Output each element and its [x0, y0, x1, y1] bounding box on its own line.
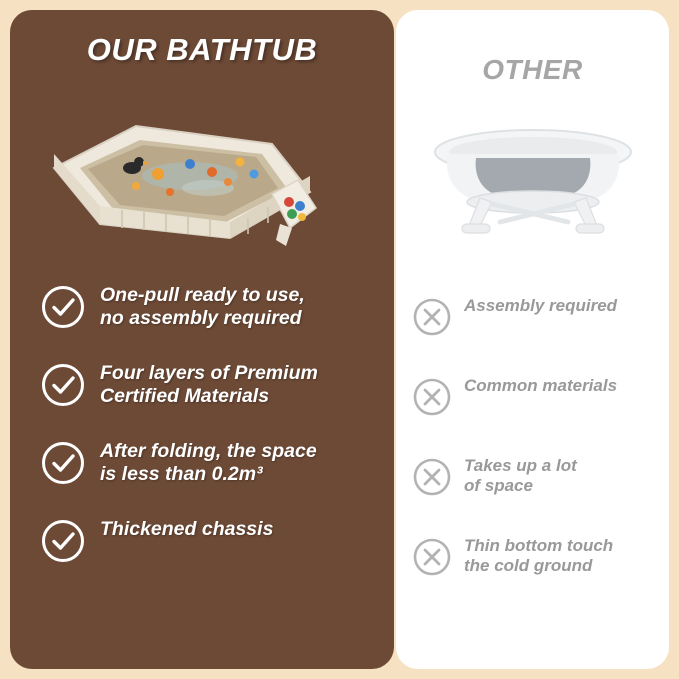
- cross-circle-icon: [412, 377, 452, 417]
- feature-label: After folding, the space is less than 0.…: [100, 438, 317, 485]
- cross-circle-icon: [412, 537, 452, 577]
- list-item: Common materials: [412, 375, 664, 425]
- our-bathtub-image: [40, 106, 370, 266]
- other-bathtub-panel: OTHER: [396, 10, 669, 669]
- list-item: Assembly required: [412, 295, 664, 345]
- other-bathtub-feature-list: Assembly required Common materials: [412, 295, 664, 615]
- feature-label: Four layers of Premium Certified Materia…: [100, 360, 318, 407]
- feature-label: Thin bottom touch the cold ground: [464, 535, 613, 577]
- page-title-right: OTHER: [396, 54, 669, 86]
- feature-label: Thickened chassis: [100, 516, 273, 541]
- feature-label: Takes up a lot of space: [464, 455, 577, 497]
- list-item: Four layers of Premium Certified Materia…: [40, 360, 380, 416]
- feature-label: Common materials: [464, 375, 617, 396]
- list-item: Takes up a lot of space: [412, 455, 664, 505]
- page-title-left: OUR BATHTUB: [10, 32, 394, 68]
- list-item: Thin bottom touch the cold ground: [412, 535, 664, 585]
- feature-label: Assembly required: [464, 295, 617, 316]
- check-circle-icon: [40, 518, 86, 564]
- list-item: Thickened chassis: [40, 516, 380, 572]
- our-bathtub-panel: OUR BATHTUB: [10, 10, 394, 669]
- feature-label: One-pull ready to use, no assembly requi…: [100, 282, 305, 329]
- cross-circle-icon: [412, 457, 452, 497]
- other-bathtub-image: [418, 118, 648, 248]
- list-item: One-pull ready to use, no assembly requi…: [40, 282, 380, 338]
- check-circle-icon: [40, 362, 86, 408]
- cross-circle-icon: [412, 297, 452, 337]
- check-circle-icon: [40, 440, 86, 486]
- check-circle-icon: [40, 284, 86, 330]
- list-item: After folding, the space is less than 0.…: [40, 438, 380, 494]
- comparison-graphic: OUR BATHTUB: [0, 0, 679, 679]
- our-bathtub-feature-list: One-pull ready to use, no assembly requi…: [40, 282, 380, 594]
